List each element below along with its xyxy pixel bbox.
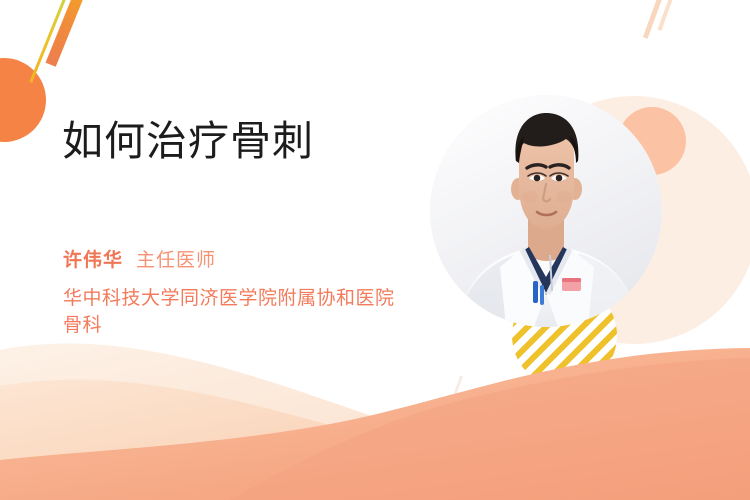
doctor-portrait	[430, 95, 662, 327]
doctor-professional-title: 主任医师	[136, 250, 216, 271]
doctor-portrait-illustration	[430, 95, 662, 327]
peach-diagonal-stripe-decoration	[658, 0, 683, 31]
orange-diagonal-stripe-decoration	[46, 0, 90, 67]
cream-diagonal-stripe-decoration	[450, 375, 463, 404]
doctor-intro-card: 如何治疗骨刺 许伟华主任医师 华中科技大学同济医学院附属协和医院 骨科	[0, 0, 750, 500]
cream-diagonal-stripe-decoration	[155, 359, 175, 402]
peach-diagonal-stripe-decoration	[643, 0, 670, 39]
department-name: 骨科	[63, 312, 463, 339]
doctor-identity-line: 许伟华主任医师	[63, 248, 216, 275]
doctor-affiliation: 华中科技大学同济医学院附属协和医院 骨科	[63, 285, 463, 339]
yellow-diagonal-stripe-decoration	[29, 0, 69, 83]
hospital-name: 华中科技大学同济医学院附属协和医院	[63, 285, 463, 312]
page-title: 如何治疗骨刺	[62, 116, 314, 166]
orange-circle-decoration	[0, 58, 46, 142]
doctor-name: 许伟华	[63, 250, 123, 271]
